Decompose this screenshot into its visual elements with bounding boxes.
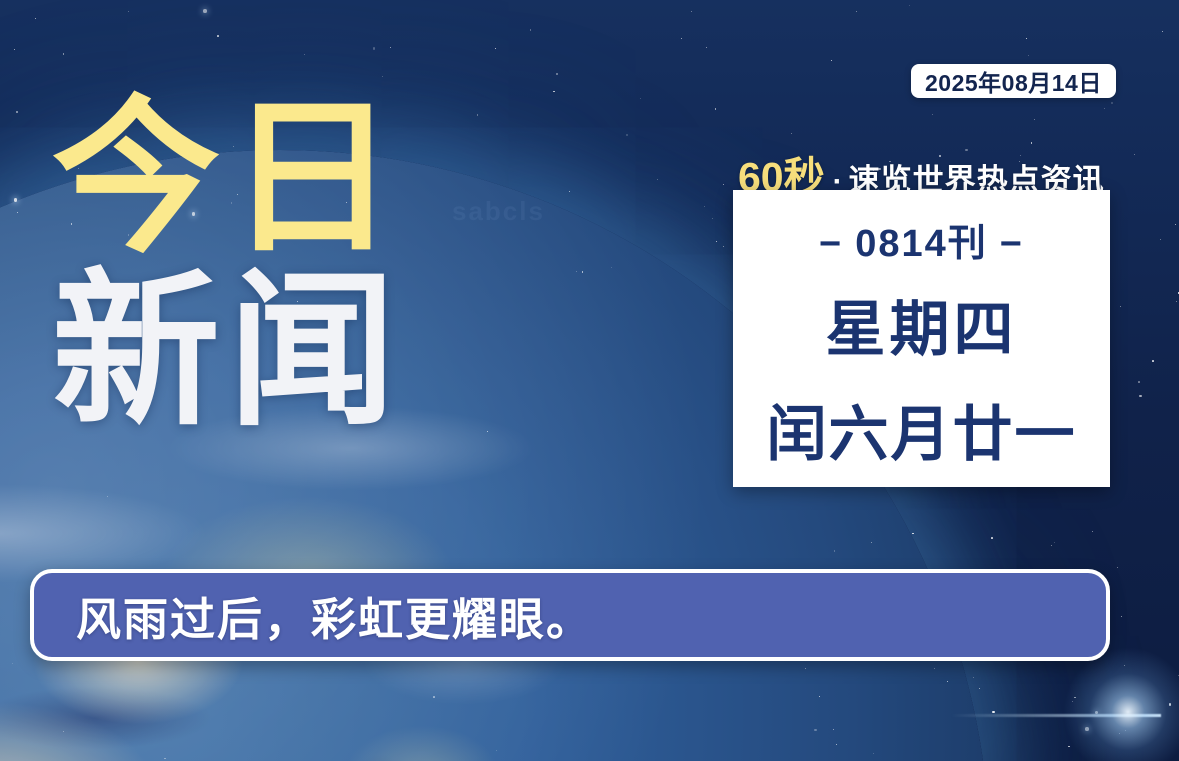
issue-number-row: −0814刊− — [807, 212, 1036, 267]
quote-text: 风雨过后，彩虹更耀眼。 — [76, 583, 593, 648]
issue-card: −0814刊− 星期四 闰六月廿一 — [733, 190, 1110, 487]
weekday-label: 星期四 — [826, 281, 1018, 368]
quote-bar: 风雨过后，彩虹更耀眼。 — [30, 569, 1110, 661]
background-watermark: sabcls — [452, 196, 545, 227]
news-poster: sabcls 今日 新闻 2025年08月14日 60秒 · 速览世界热点资讯 … — [0, 0, 1179, 761]
brand-title-line1: 今日 — [52, 96, 404, 261]
issue-dash-right: − — [1000, 223, 1024, 266]
date-badge: 2025年08月14日 — [911, 64, 1116, 98]
brand-title-line2: 新闻 — [52, 269, 404, 434]
issue-number: 0814刊 — [855, 223, 988, 265]
brand-title: 今日 新闻 — [52, 96, 404, 433]
issue-dash-left: − — [819, 223, 843, 266]
lunar-date-label: 闰六月廿一 — [767, 386, 1077, 473]
